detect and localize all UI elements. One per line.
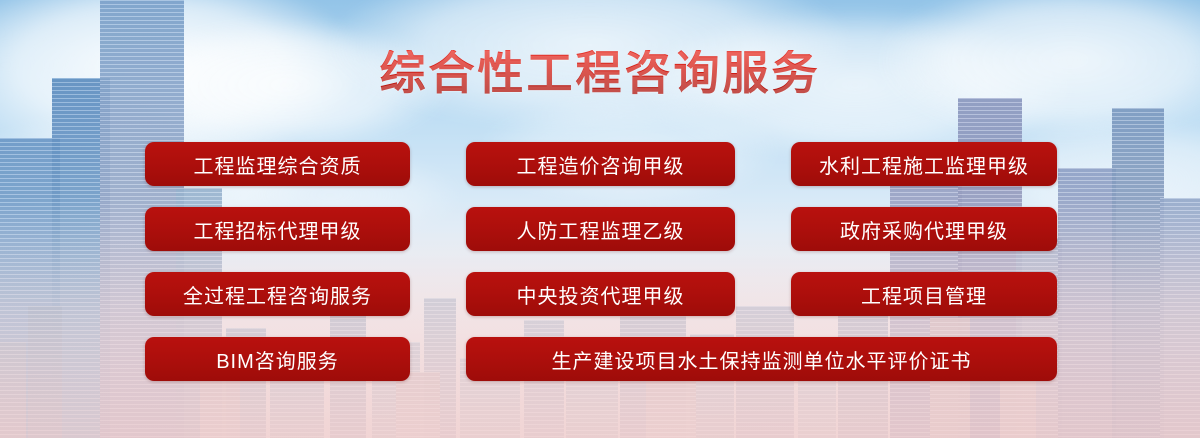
qualifications-banner: 综合性工程咨询服务 工程监理综合资质 工程造价咨询甲级 水利工程施工监理甲级 工… [0,0,1200,438]
qualification-chip[interactable]: 人防工程监理乙级 [466,207,735,251]
qualification-chip[interactable]: 生产建设项目水土保持监测单位水平评价证书 [466,337,1057,381]
qualification-chip[interactable]: BIM咨询服务 [145,337,410,381]
qualification-chip[interactable]: 水利工程施工监理甲级 [791,142,1057,186]
building-silhouette [0,342,26,438]
building-silhouette [1160,198,1200,438]
building-silhouette [1112,108,1164,438]
qualification-chip[interactable]: 工程造价咨询甲级 [466,142,735,186]
qualification-chip[interactable]: 全过程工程咨询服务 [145,272,410,316]
qualification-row: 工程招标代理甲级 人防工程监理乙级 政府采购代理甲级 [145,207,1061,251]
building-silhouette [646,376,696,438]
qualification-row: 全过程工程咨询服务 中央投资代理甲级 工程项目管理 [145,272,1061,316]
page-title: 综合性工程咨询服务 [0,50,1200,96]
qualification-chip[interactable]: 中央投资代理甲级 [466,272,735,316]
qualification-chip[interactable]: 工程项目管理 [791,272,1057,316]
qualification-chip[interactable]: 工程监理综合资质 [145,142,410,186]
qualification-chip[interactable]: 工程招标代理甲级 [145,207,410,251]
qualification-row: 工程监理综合资质 工程造价咨询甲级 水利工程施工监理甲级 [145,142,1061,186]
qualification-chip[interactable]: 政府采购代理甲级 [791,207,1057,251]
building-silhouette [28,306,62,438]
building-silhouette [396,372,440,438]
qualification-row: BIM咨询服务 生产建设项目水土保持监测单位水平评价证书 [145,337,1061,381]
building-silhouette [1058,168,1116,438]
qualification-grid: 工程监理综合资质 工程造价咨询甲级 水利工程施工监理甲级 工程招标代理甲级 人防… [145,142,1061,381]
